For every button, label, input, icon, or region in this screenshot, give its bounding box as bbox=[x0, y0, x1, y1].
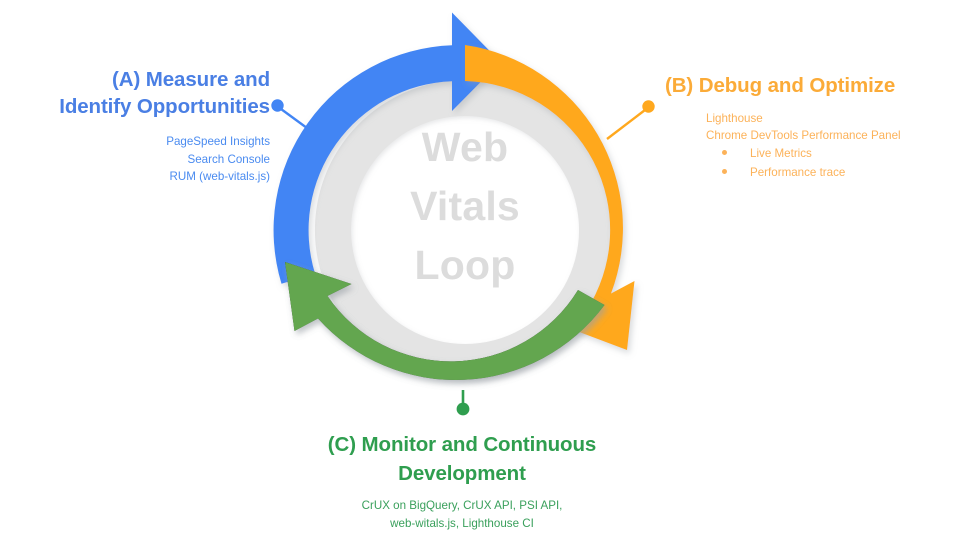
segment-a-heading: (A) Measure and Identify Opportunities bbox=[10, 66, 270, 120]
segment-c-text-block: (C) Monitor and Continuous Development C… bbox=[262, 430, 662, 532]
segment-b-tool-item: Chrome DevTools Performance Panel bbox=[706, 127, 955, 144]
segment-b-text-block: (B) Debug and Optimize Lighthouse Chrome… bbox=[665, 72, 955, 181]
connector-dot-c bbox=[457, 403, 470, 416]
center-label: Web Vitals Loop bbox=[350, 118, 580, 295]
diagram-canvas: Web Vitals Loop (A) Measure and Identify… bbox=[0, 0, 960, 540]
segment-c-heading-line-1: (C) Monitor and Continuous bbox=[262, 430, 662, 459]
segment-a-heading-line-2: Identify Opportunities bbox=[10, 93, 270, 120]
connector-dot-b bbox=[642, 100, 654, 112]
segment-b-bullet-label: Live Metrics bbox=[750, 145, 812, 162]
segment-a-heading-line-1: (A) Measure and bbox=[10, 66, 270, 93]
connector-b bbox=[607, 100, 655, 139]
segment-c-tool-list: CrUX on BigQuery, CrUX API, PSI API, web… bbox=[262, 497, 662, 532]
bullet-icon bbox=[722, 169, 727, 174]
segment-a-tool-list: PageSpeed Insights Search Console RUM (w… bbox=[10, 133, 270, 186]
center-label-line-2: Vitals bbox=[350, 177, 580, 236]
center-label-line-3: Loop bbox=[350, 236, 580, 295]
segment-c-tool-item: CrUX on BigQuery, CrUX API, PSI API, bbox=[262, 497, 662, 515]
list-item: Performance trace bbox=[706, 164, 955, 181]
segment-b-heading: (B) Debug and Optimize bbox=[665, 72, 955, 99]
segment-a-tool-item: RUM (web-vitals.js) bbox=[10, 168, 270, 186]
segment-a-tool-item: Search Console bbox=[10, 151, 270, 169]
connector-dot-a bbox=[271, 99, 283, 111]
segment-c-heading-line-2: Development bbox=[262, 459, 662, 488]
segment-b-bullet-label: Performance trace bbox=[750, 164, 845, 181]
segment-b-tool-list: Lighthouse Chrome DevTools Performance P… bbox=[706, 110, 955, 181]
segment-c-heading: (C) Monitor and Continuous Development bbox=[262, 430, 662, 488]
center-label-line-1: Web bbox=[350, 118, 580, 177]
connector-c bbox=[457, 390, 470, 415]
segment-c-tool-item: web-witals.js, Lighthouse CI bbox=[262, 515, 662, 533]
segment-a-tool-item: PageSpeed Insights bbox=[10, 133, 270, 151]
segment-b-bullet-list: Live Metrics Performance trace bbox=[706, 145, 955, 180]
bullet-icon bbox=[722, 150, 727, 155]
segment-b-tool-item: Lighthouse bbox=[706, 110, 955, 127]
list-item: Live Metrics bbox=[706, 145, 955, 162]
segment-a-text-block: (A) Measure and Identify Opportunities P… bbox=[10, 66, 270, 186]
